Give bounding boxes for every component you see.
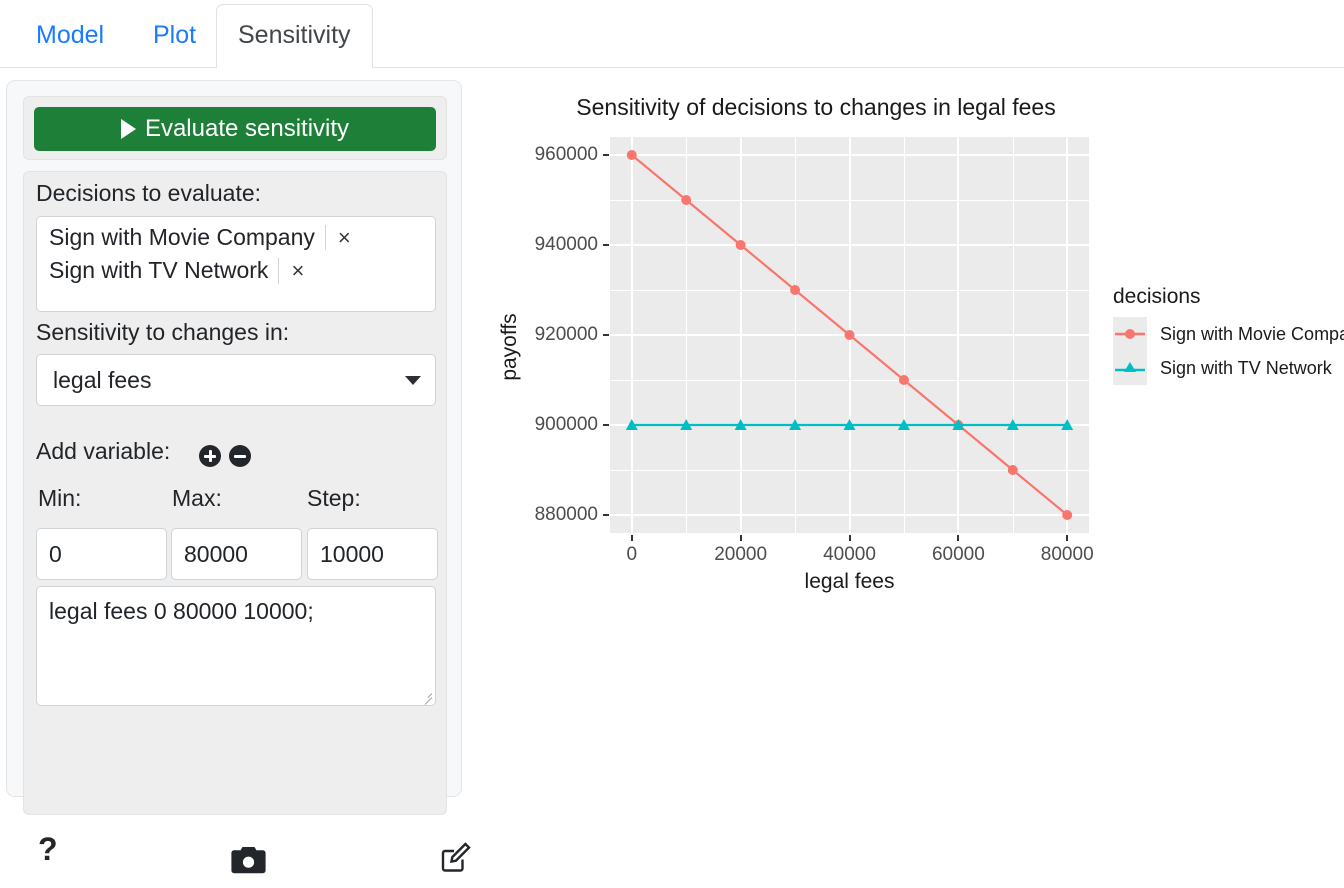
legend-key-circle-icon bbox=[1113, 317, 1147, 351]
chevron-down-icon bbox=[405, 376, 421, 385]
y-tick-mark bbox=[603, 334, 609, 336]
decisions-label: Decisions to evaluate: bbox=[36, 180, 261, 207]
y-tick-label: 880000 bbox=[498, 504, 598, 526]
edit-square-icon[interactable] bbox=[441, 842, 471, 877]
legend-title: decisions bbox=[1113, 285, 1201, 309]
add-variable-label: Add variable: bbox=[36, 438, 170, 465]
y-axis-title: payoffs bbox=[498, 287, 522, 407]
chart-series-layer bbox=[610, 137, 1089, 533]
x-tick-mark bbox=[957, 535, 959, 541]
tab-plot[interactable]: Plot bbox=[131, 4, 218, 68]
y-tick-label: 960000 bbox=[498, 144, 598, 166]
min-input[interactable] bbox=[36, 528, 167, 580]
play-icon bbox=[121, 119, 136, 139]
data-point bbox=[899, 375, 909, 385]
data-point bbox=[790, 285, 800, 295]
y-tick-mark bbox=[603, 154, 609, 156]
legend-entry[interactable]: Sign with TV Network bbox=[1113, 351, 1332, 385]
form-well: Decisions to evaluate: Sign with Movie C… bbox=[23, 171, 447, 815]
decision-item-label: Sign with Movie Company bbox=[49, 226, 315, 249]
list-item[interactable]: Sign with TV Network × bbox=[43, 256, 435, 289]
step-label: Step: bbox=[307, 485, 361, 512]
tab-model[interactable]: Model bbox=[14, 4, 126, 68]
decision-item-label: Sign with TV Network bbox=[49, 259, 268, 282]
variable-select-value: legal fees bbox=[53, 367, 405, 394]
x-tick-mark bbox=[1066, 535, 1068, 541]
x-tick-label: 20000 bbox=[681, 544, 801, 566]
sidebar-footer: ? bbox=[24, 833, 478, 888]
x-tick-mark bbox=[849, 535, 851, 541]
step-input[interactable] bbox=[307, 528, 438, 580]
data-point bbox=[845, 330, 855, 340]
x-tick-label: 0 bbox=[572, 544, 692, 566]
run-well: Evaluate sensitivity bbox=[23, 96, 447, 160]
data-point bbox=[627, 150, 637, 160]
variable-select[interactable]: legal fees bbox=[36, 354, 436, 406]
x-tick-label: 60000 bbox=[898, 544, 1018, 566]
evaluate-sensitivity-button[interactable]: Evaluate sensitivity bbox=[34, 107, 436, 151]
data-point bbox=[1062, 510, 1072, 520]
remove-decision-icon[interactable]: × bbox=[278, 258, 304, 283]
x-axis-title: legal fees bbox=[610, 570, 1089, 594]
chart-title: Sensitivity of decisions to changes in l… bbox=[476, 94, 1156, 121]
y-tick-mark bbox=[603, 244, 609, 246]
x-tick-label: 80000 bbox=[1007, 544, 1127, 566]
data-point bbox=[1008, 465, 1018, 475]
legend-label: Sign with TV Network bbox=[1160, 358, 1332, 379]
sensitivity-chart: Sensitivity of decisions to changes in l… bbox=[476, 80, 1344, 600]
plus-circle-icon[interactable] bbox=[199, 445, 221, 467]
remove-decision-icon[interactable]: × bbox=[325, 225, 351, 250]
tab-sensitivity[interactable]: Sensitivity bbox=[216, 4, 373, 68]
help-icon[interactable]: ? bbox=[38, 833, 58, 865]
min-label: Min: bbox=[38, 485, 81, 512]
legend-entry[interactable]: Sign with Movie Company bbox=[1113, 317, 1344, 351]
data-point bbox=[736, 240, 746, 250]
sidebar-panel: Evaluate sensitivity Decisions to evalua… bbox=[6, 80, 462, 797]
decisions-selectize-input[interactable]: Sign with Movie Company × Sign with TV N… bbox=[36, 216, 436, 312]
x-tick-mark bbox=[740, 535, 742, 541]
minus-circle-icon[interactable] bbox=[229, 445, 251, 467]
x-tick-label: 40000 bbox=[790, 544, 910, 566]
tab-bar: Model Plot Sensitivity bbox=[0, 0, 1344, 68]
x-tick-mark bbox=[631, 535, 633, 541]
list-item[interactable]: Sign with Movie Company × bbox=[43, 223, 435, 256]
data-point bbox=[681, 195, 691, 205]
max-input[interactable] bbox=[171, 528, 302, 580]
max-label: Max: bbox=[172, 485, 222, 512]
sensitivity-to-label: Sensitivity to changes in: bbox=[36, 319, 289, 346]
legend-key-triangle-icon bbox=[1113, 351, 1147, 385]
y-tick-label: 940000 bbox=[498, 234, 598, 256]
y-tick-mark bbox=[603, 424, 609, 426]
y-tick-mark bbox=[603, 514, 609, 516]
legend-label: Sign with Movie Company bbox=[1160, 324, 1344, 345]
y-tick-label: 900000 bbox=[498, 414, 598, 436]
camera-icon[interactable] bbox=[231, 846, 266, 880]
run-button-label: Evaluate sensitivity bbox=[145, 115, 349, 143]
sensitivity-script-textarea[interactable]: legal fees 0 80000 10000; bbox=[36, 586, 436, 706]
